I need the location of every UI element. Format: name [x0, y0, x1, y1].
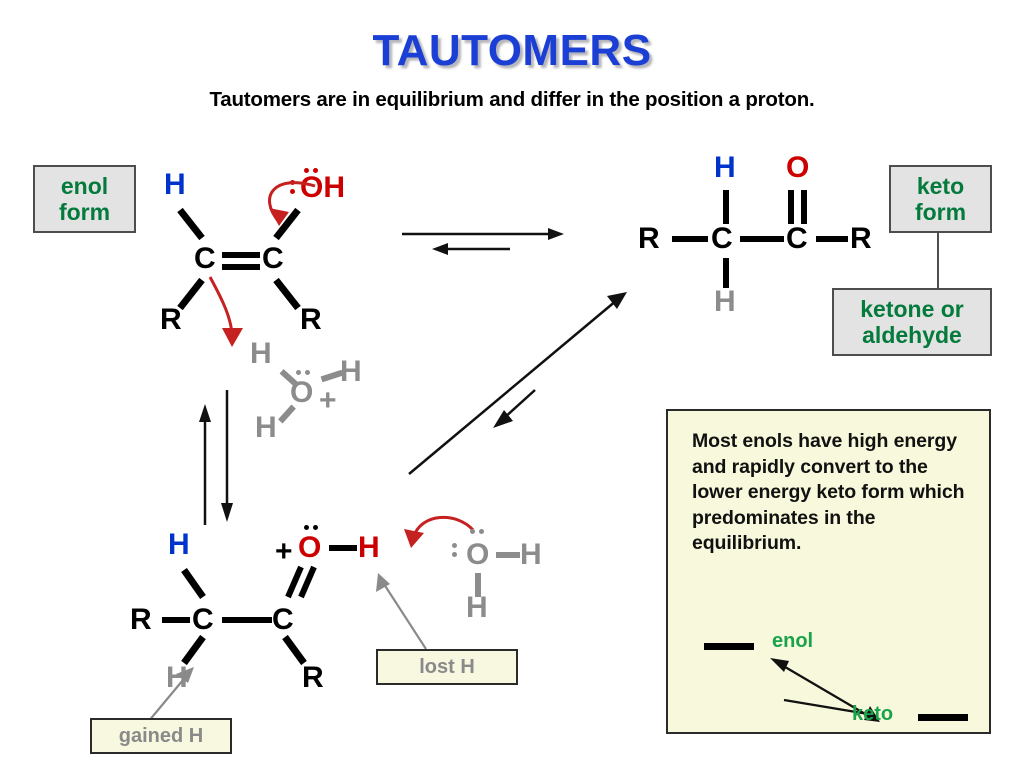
equilibrium-arrow-vertical	[185, 390, 245, 535]
lost-h-callout: lost H	[376, 649, 518, 685]
hydronium-h-right: H	[340, 357, 362, 387]
water-h-right: H	[520, 540, 542, 570]
keto-double-bond-left	[788, 190, 794, 224]
keto-h-top: H	[714, 153, 736, 183]
water-molecule: O H H	[450, 525, 570, 635]
gained-h-callout-label: gained H	[119, 725, 203, 748]
keto-form-label-line1: keto	[917, 173, 964, 199]
ketone-label-line1: ketone or	[860, 296, 964, 322]
equilibrium-arrow-diagonal	[395, 282, 645, 482]
enol-energy-label: enol	[772, 630, 813, 653]
keto-bond-c-h-top	[723, 190, 729, 224]
protonated-charge: +	[275, 537, 293, 567]
keto-energy-label: keto	[852, 703, 893, 726]
enol-r-right: R	[300, 305, 322, 335]
note-text: Most enols have high energy and rapidly …	[692, 429, 970, 557]
gained-h-callout: gained H	[90, 718, 232, 754]
equilibrium-arrow-top	[400, 222, 570, 262]
enol-r-left: R	[160, 305, 182, 335]
keto-carbon-left: C	[711, 224, 733, 254]
keto-r-right: R	[850, 224, 872, 254]
note-panel: Most enols have high energy and rapidly …	[666, 409, 991, 734]
enol-energy-level-bar	[704, 643, 754, 650]
protonated-o-hydrogen: H	[358, 533, 380, 563]
keto-r-left: R	[638, 224, 660, 254]
keto-carbon-right: C	[786, 224, 808, 254]
enol-form-label-line1: enol	[61, 173, 108, 199]
hydronium-oxygen: O	[290, 378, 313, 408]
hydronium-bond-lower	[278, 405, 296, 424]
keto-bond-r-c-left	[672, 236, 708, 242]
water-oxygen: O	[466, 540, 489, 570]
hydronium-lone-pair	[294, 364, 312, 382]
keto-bond-c-c	[740, 236, 784, 242]
page-subtitle: Tautomers are in equilibrium and differ …	[0, 88, 1024, 112]
hydronium-h-lower-left: H	[255, 413, 277, 443]
lost-h-pointer-line	[368, 565, 438, 655]
keto-double-bond-right	[801, 190, 807, 224]
water-bond-o-h-right	[496, 552, 520, 558]
keto-bond-c-r-right	[816, 236, 848, 242]
page-title: TAUTOMERS	[0, 26, 1024, 76]
keto-energy-level-bar	[918, 714, 968, 721]
keto-bond-c-h-bottom	[723, 258, 729, 288]
enol-carbon-left: C	[194, 244, 216, 274]
protonated-oxygen-lone-pair	[302, 519, 320, 537]
enol-carbon-right: C	[262, 244, 284, 274]
protonated-oxygen: O	[298, 533, 321, 563]
hydronium-h-upper-left: H	[250, 339, 272, 369]
ketone-label-line2: aldehyde	[862, 322, 962, 348]
enol-double-bond-upper	[222, 252, 260, 258]
ketone-aldehyde-label-box: ketone or aldehyde	[832, 288, 992, 356]
protonated-bond-o-h	[329, 545, 357, 551]
hydronium-charge: +	[319, 386, 337, 416]
keto-form-label-box: keto form	[889, 165, 992, 233]
hydronium-ion: H O + H H	[245, 335, 385, 450]
keto-h-bottom: H	[714, 287, 736, 317]
keto-form-label-line2: form	[915, 199, 966, 225]
enol-form-label-line2: form	[59, 199, 110, 225]
enol-electron-arrow-up	[255, 168, 375, 248]
enol-double-bond-lower	[222, 264, 260, 270]
enol-form-label-box: enol form	[33, 165, 136, 233]
keto-oxygen: O	[786, 153, 809, 183]
lost-h-callout-label: lost H	[419, 656, 475, 679]
water-h-bottom: H	[466, 593, 488, 623]
water-lone-pair-left	[452, 539, 457, 561]
keto-label-connector-line	[937, 233, 939, 288]
